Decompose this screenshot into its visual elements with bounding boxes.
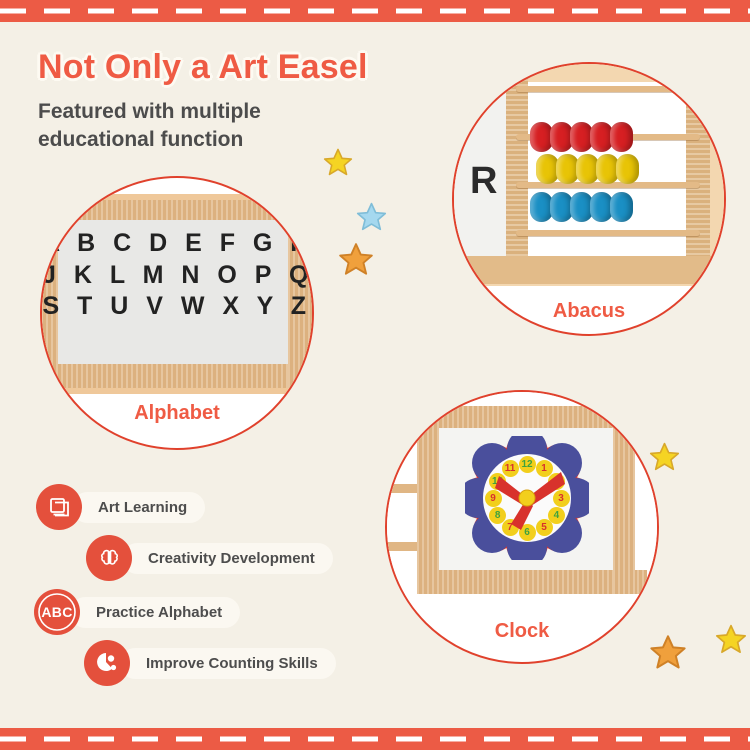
callout-abacus[interactable]: R <box>452 62 726 336</box>
easel-frame-top <box>42 200 312 220</box>
easel-frame-bottom <box>42 364 312 388</box>
star-orange-1 <box>337 240 375 283</box>
feature-label: Creativity Development <box>122 543 333 574</box>
infographic-canvas: Not Only a Art Easel Featured with multi… <box>0 0 750 750</box>
clock-frame-right <box>613 422 635 594</box>
easel-leg-rung <box>387 426 421 435</box>
top-border-bar <box>0 0 750 22</box>
clock-face: 12 1 2 3 4 5 6 7 8 9 10 11 <box>465 436 589 560</box>
callout-caption-alphabet: Alphabet <box>42 402 312 425</box>
ghost-letter-r: R <box>470 160 497 203</box>
abacus-rod <box>516 230 700 236</box>
brain-icon <box>86 535 132 581</box>
alphabet-row: J K L M N O P Q R <box>42 260 312 292</box>
star-blue-1 <box>355 200 388 238</box>
star-orange-2 <box>648 632 688 677</box>
feature-improve-counting-skills[interactable]: Improve Counting Skills <box>84 640 336 686</box>
callout-alphabet[interactable]: A B C D E F G H I J K L M N O P Q R S T … <box>40 176 314 450</box>
book-icon <box>36 484 82 530</box>
clock-frame-top <box>417 406 629 428</box>
clock-hands-svg <box>465 436 589 560</box>
abacus-photo: R <box>454 64 724 286</box>
counting-icon <box>84 640 130 686</box>
alphabet-row: A B C D E F G H I <box>42 228 312 260</box>
star-yellow-1 <box>322 146 354 183</box>
callout-caption-clock: Clock <box>387 620 657 643</box>
abacus-tray <box>454 256 724 284</box>
feature-label: Art Learning <box>72 492 205 523</box>
feature-practice-alphabet[interactable]: ABC Practice Alphabet <box>34 589 240 635</box>
callout-caption-abacus: Abacus <box>454 300 724 323</box>
clock-frame-left <box>417 406 439 594</box>
page-subtitle: Featured with multiple educational funct… <box>38 98 328 154</box>
star-yellow-3 <box>714 622 748 661</box>
alphabet-row: S T U V W X Y Z <box>42 291 312 323</box>
alphabet-photo: A B C D E F G H I J K L M N O P Q R S T … <box>42 194 312 394</box>
abc-icon: ABC <box>34 589 80 635</box>
easel-leg-rung <box>387 542 421 551</box>
top-border-dashes <box>0 9 750 14</box>
abacus-rod <box>516 86 700 92</box>
alphabet-letters: A B C D E F G H I J K L M N O P Q R S T … <box>42 228 312 323</box>
page-title: Not Only a Art Easel <box>38 48 368 87</box>
callout-clock[interactable]: 12 1 2 3 4 5 6 7 8 9 10 11 <box>385 390 659 664</box>
feature-label: Practice Alphabet <box>70 597 240 628</box>
bottom-border-dashes <box>0 737 750 742</box>
feature-label: Improve Counting Skills <box>120 648 336 679</box>
abacus-post-right <box>686 78 710 264</box>
clock-photo: 12 1 2 3 4 5 6 7 8 9 10 11 <box>387 392 657 610</box>
star-yellow-2 <box>648 440 681 478</box>
feature-creativity-development[interactable]: Creativity Development <box>86 535 333 581</box>
bottom-border-bar <box>0 728 750 750</box>
feature-art-learning[interactable]: Art Learning <box>36 484 205 530</box>
